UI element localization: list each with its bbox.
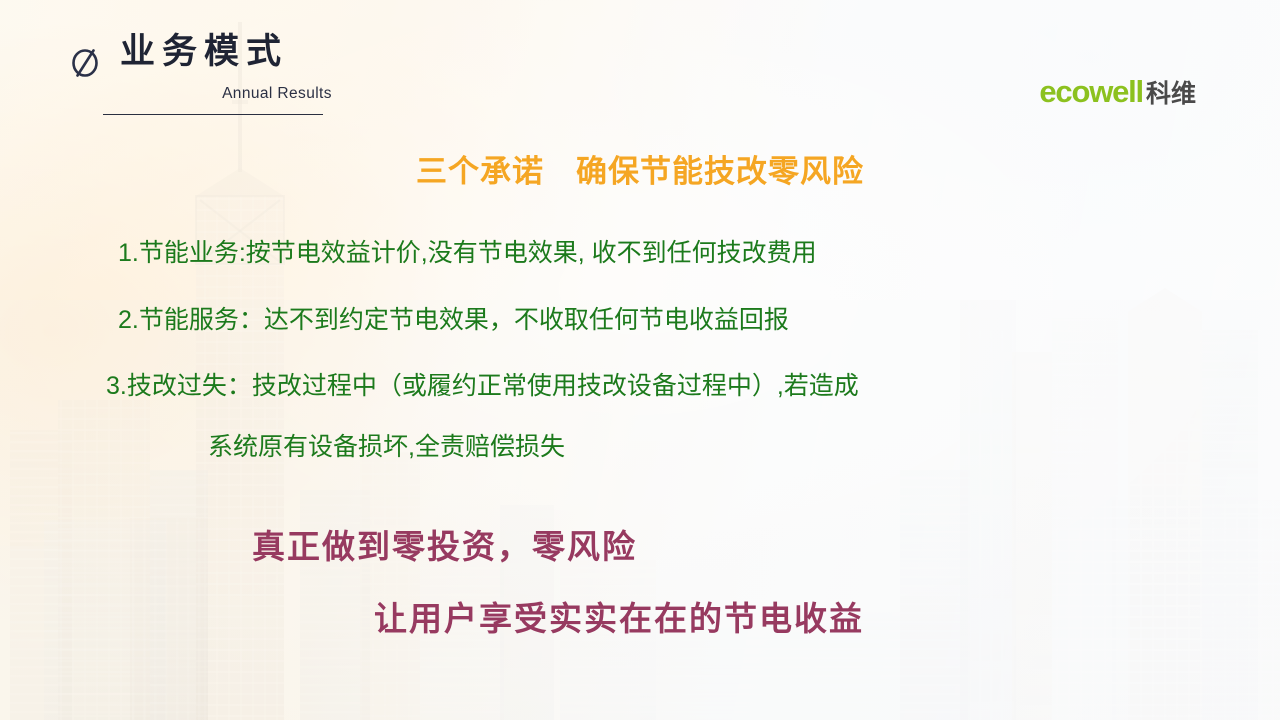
list-item: 3.技改过失：技改过程中（或履约正常使用技改设备过程中）,若造成 <box>106 370 1280 403</box>
slide-headline: 三个承诺 确保节能技改零风险 <box>0 146 1280 191</box>
page-title: 业务模式 <box>120 30 288 74</box>
closing-line: 真正做到零投资，零风险 <box>252 527 1280 570</box>
header-divider <box>103 114 323 115</box>
closing-statement: 真正做到零投资，零风险 让用户享受实实在在的节电收益 <box>0 527 1280 642</box>
page-subtitle: Annual Results <box>147 85 407 103</box>
circle-slash-glyph <box>65 42 105 82</box>
closing-line: 让用户享受实实在在的节电收益 <box>374 599 1280 642</box>
logo-chinese-name: 科维 <box>1146 82 1196 107</box>
slide-header: 业务模式 Annual Results <box>62 26 482 122</box>
commitment-list: 1.节能业务:按节电效益计价,没有节电效果, 收不到任何技改费用 2.节能服务：… <box>0 237 1280 463</box>
circle-slash-icon <box>65 42 105 82</box>
presentation-slide: 业务模式 Annual Results ecowell 科维 三个承诺 确保节能… <box>0 0 1280 720</box>
logo-wordmark: ecowell <box>1039 76 1143 107</box>
list-item: 1.节能业务:按节电效益计价,没有节电效果, 收不到任何技改费用 <box>118 237 1280 270</box>
list-item-continuation: 系统原有设备损坏,全责赔偿损失 <box>208 431 1280 464</box>
list-item: 2.节能服务：达不到约定节电效果，不收取任何节电收益回报 <box>118 304 1280 337</box>
brand-logo: ecowell 科维 <box>1039 76 1196 107</box>
